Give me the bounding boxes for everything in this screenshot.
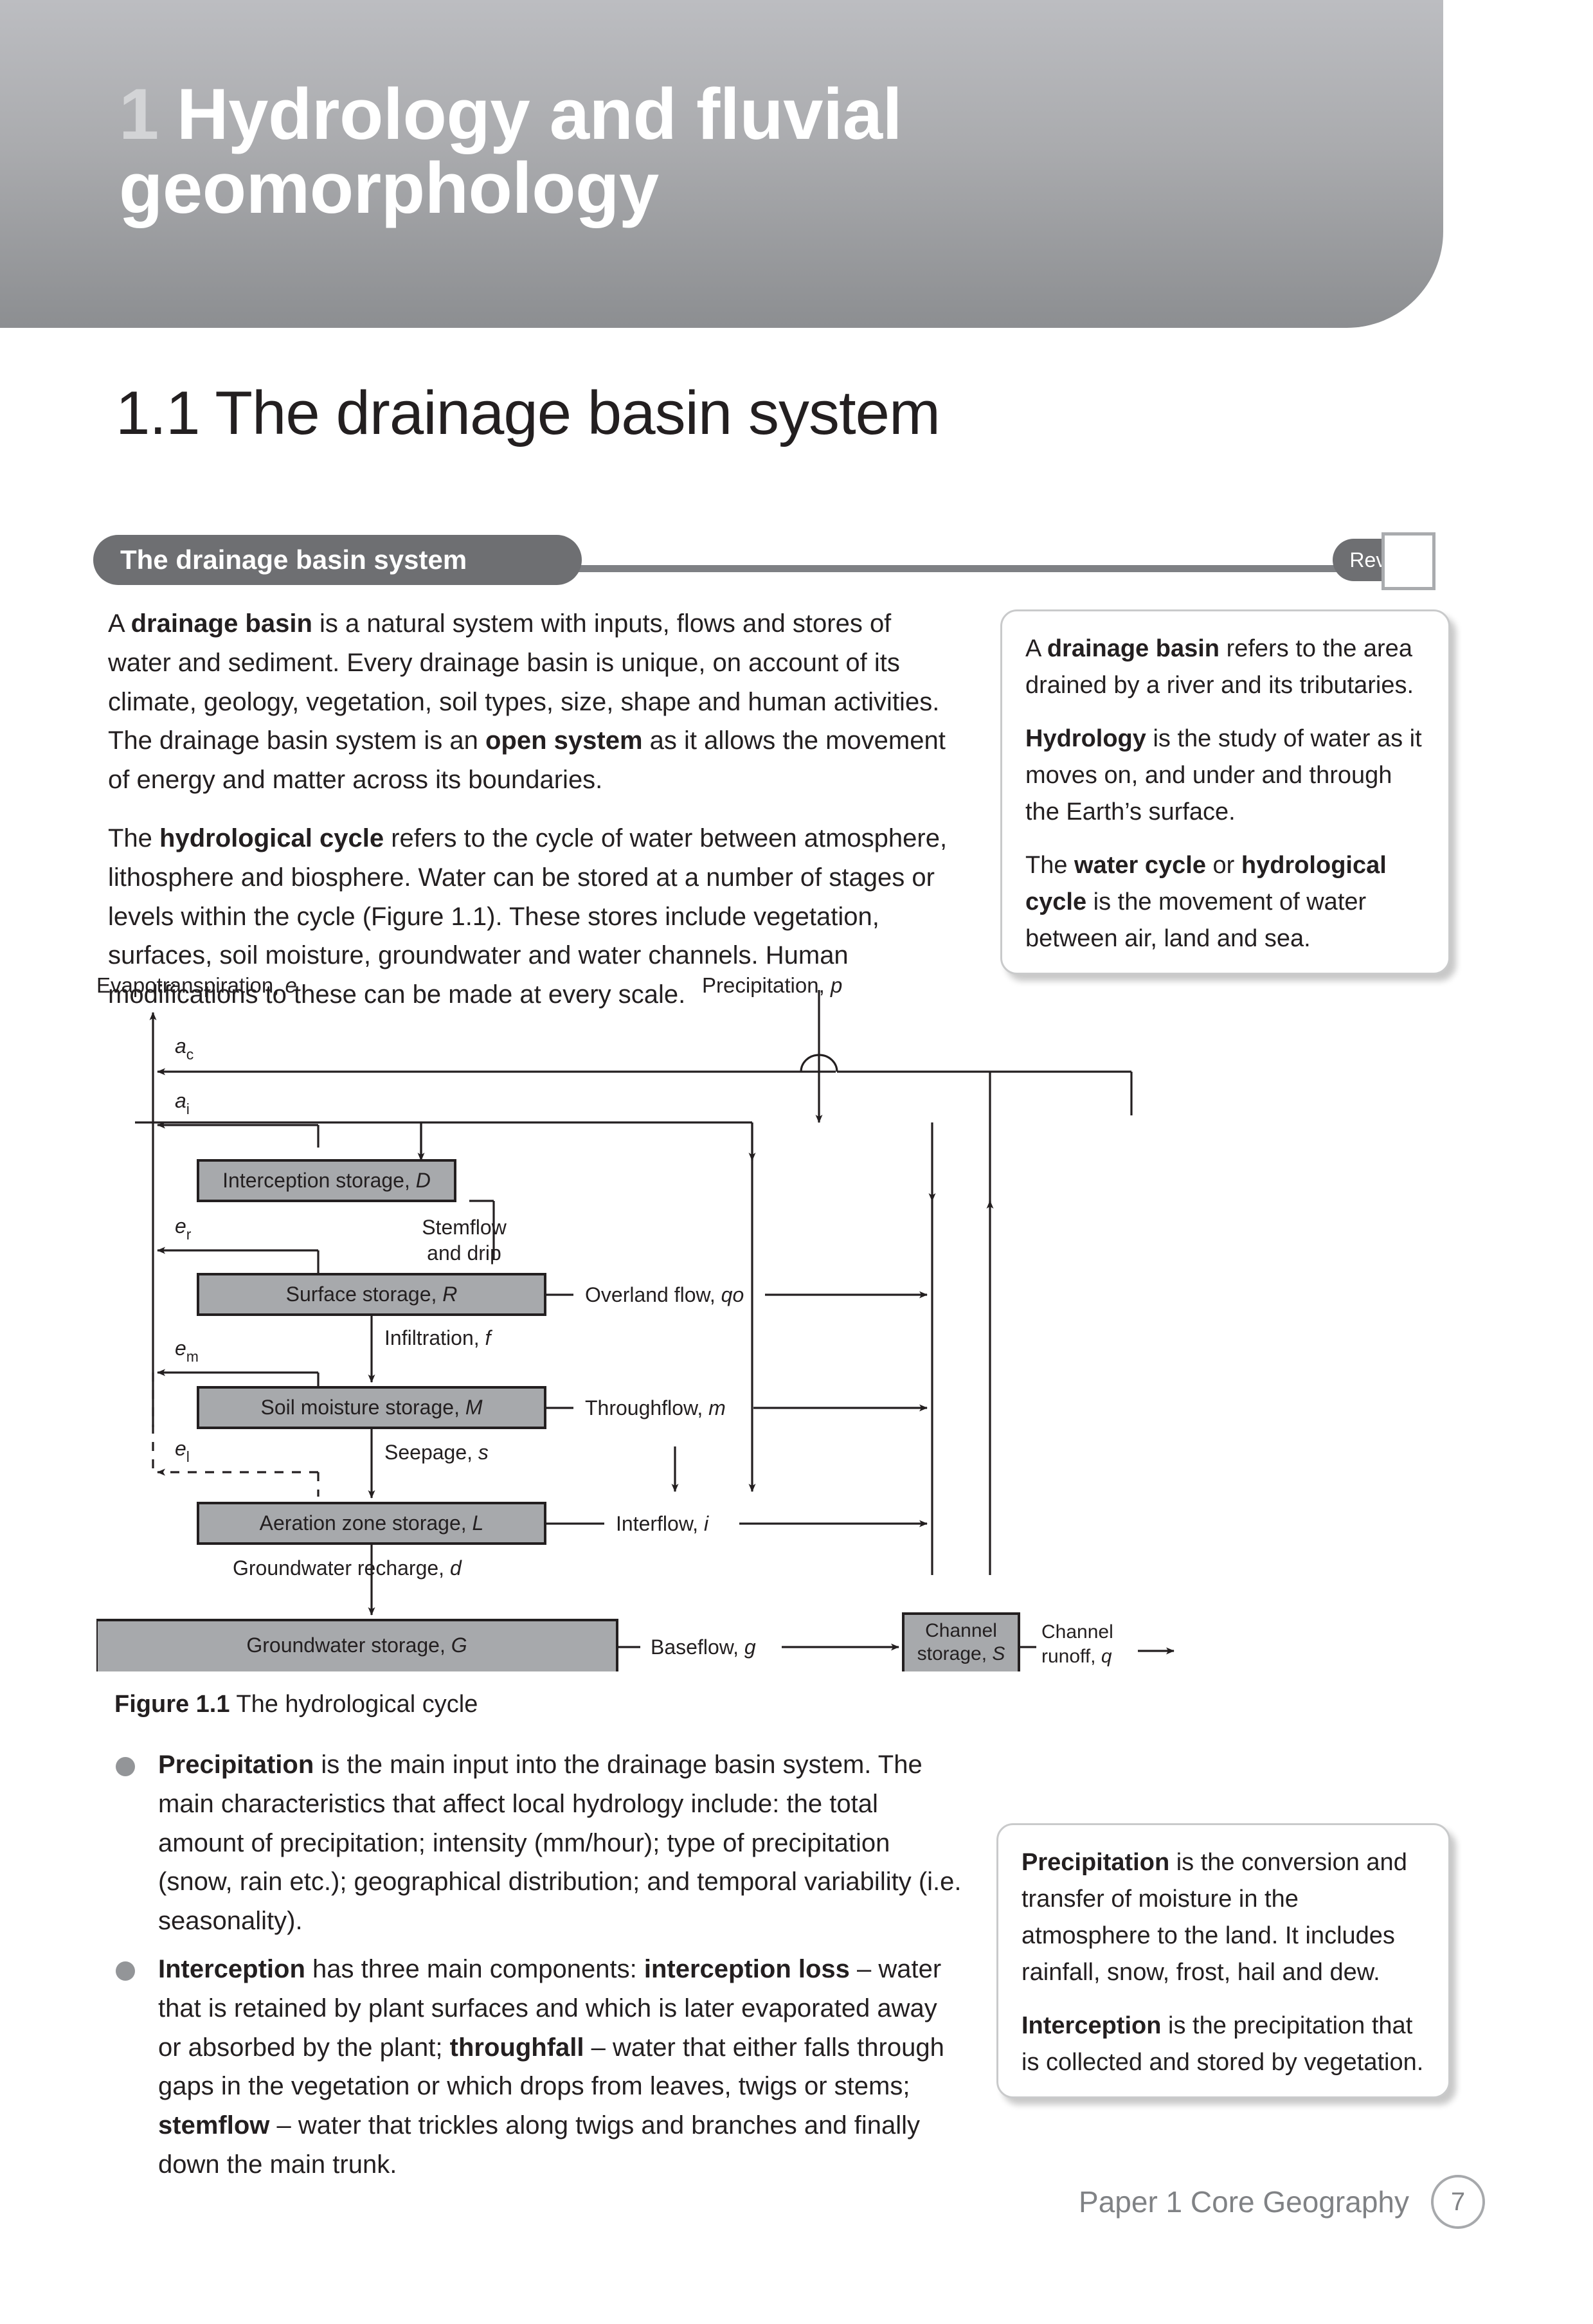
list-item-text: Precipitation is the main input into the… xyxy=(158,1751,962,1935)
label-aeration-zone-storage: Aeration zone storage, L xyxy=(260,1511,484,1535)
label-groundwater-storage: Groundwater storage, G xyxy=(246,1634,467,1657)
footer-text: Paper 1 Core Geography xyxy=(1079,2184,1409,2219)
label-overland-flow: Overland flow, qo xyxy=(585,1283,744,1306)
label-flow-ai: ai xyxy=(175,1089,190,1117)
topic-rule xyxy=(572,565,1344,572)
label-precipitation: Precipitation, p xyxy=(702,977,842,997)
label-seepage: Seepage, s xyxy=(384,1441,489,1464)
definition-box-drainage-basin: A drainage basin refers to the area drai… xyxy=(1000,609,1450,975)
chapter-title: 1Hydrology and fluvial geomorphology xyxy=(119,77,1083,226)
chapter-number: 1 xyxy=(119,74,159,154)
body-text-column: A drainage basin is a natural system wit… xyxy=(108,604,953,1034)
definition-item: Hydrology is the study of water as it mo… xyxy=(1025,721,1425,831)
figure-caption: Figure 1.1 The hydrological cycle xyxy=(114,1691,478,1718)
topic-pill: The drainage basin system xyxy=(93,535,582,585)
figure-hydrological-cycle: Evapotranspiration, e Precipitation, p a… xyxy=(96,977,1183,1671)
body-paragraph-1: A drainage basin is a natural system wit… xyxy=(108,604,953,800)
label-evapotranspiration: Evapotranspiration, e xyxy=(96,977,297,997)
page-footer: Paper 1 Core Geography 7 xyxy=(1079,2175,1485,2229)
chapter-title-text: Hydrology and fluvial geomorphology xyxy=(119,74,902,228)
bullet-list: Precipitation is the main input into the… xyxy=(108,1745,963,2193)
definition-item: A drainage basin refers to the area drai… xyxy=(1025,631,1425,704)
label-surface-storage: Surface storage, R xyxy=(286,1283,458,1306)
label-interflow: Interflow, i xyxy=(616,1512,709,1535)
figure-caption-text: The hydrological cycle xyxy=(236,1691,478,1718)
chapter-banner: 1Hydrology and fluvial geomorphology xyxy=(0,0,1443,328)
label-flow-er: er xyxy=(175,1214,192,1243)
label-soil-moisture-storage: Soil moisture storage, M xyxy=(260,1396,482,1419)
figure-caption-prefix: Figure 1.1 xyxy=(114,1691,230,1718)
label-throughflow: Throughflow, m xyxy=(585,1396,726,1419)
label-infiltration: Infiltration, f xyxy=(384,1326,493,1349)
label-channel-runoff-line1: Channel xyxy=(1041,1621,1113,1643)
label-flow-em: em xyxy=(175,1337,199,1365)
definition-item: Precipitation is the conversion and tran… xyxy=(1022,1844,1425,1991)
label-channel-storage-line1: Channel xyxy=(925,1620,997,1641)
list-item-text: Interception has three main components: … xyxy=(158,1955,944,2179)
topic-bar: The drainage basin system Revised xyxy=(93,535,1450,588)
section-heading: 1.1 The drainage basin system xyxy=(116,378,940,449)
bullet-dot-icon xyxy=(116,1757,135,1776)
label-flow-el: el xyxy=(175,1437,190,1465)
definition-item: Interception is the precipitation that i… xyxy=(1022,2008,1425,2081)
label-channel-storage-line2: storage, S xyxy=(917,1643,1005,1664)
list-item: Precipitation is the main input into the… xyxy=(108,1745,963,1941)
label-channel-runoff-line2: runoff, q xyxy=(1041,1646,1112,1667)
label-baseflow: Baseflow, g xyxy=(651,1635,756,1659)
label-interception-storage: Interception storage, D xyxy=(222,1169,431,1192)
topic-pill-label: The drainage basin system xyxy=(120,545,467,575)
label-groundwater-recharge: Groundwater recharge, d xyxy=(233,1556,462,1580)
list-item: Interception has three main components: … xyxy=(108,1950,963,2184)
bullet-dot-icon xyxy=(116,1961,135,1981)
revised-checkbox[interactable] xyxy=(1381,532,1435,590)
label-stemflow-line2: and drip xyxy=(427,1241,501,1265)
definition-item: The water cycle or hydrological cycle is… xyxy=(1025,847,1425,957)
hydrological-cycle-diagram: Evapotranspiration, e Precipitation, p a… xyxy=(96,977,1183,1671)
page-number: 7 xyxy=(1431,2175,1485,2229)
definition-box-precipitation: Precipitation is the conversion and tran… xyxy=(996,1823,1450,2098)
label-flow-ac: ac xyxy=(175,1034,194,1063)
